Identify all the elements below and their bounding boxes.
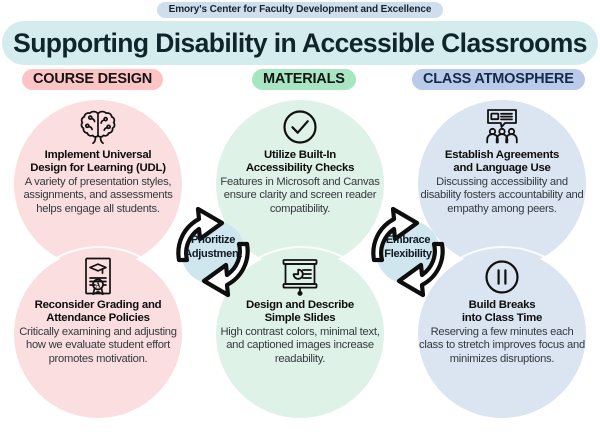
connector-label-line1: Prioritize	[191, 234, 235, 246]
connector-label-line1: Embrace	[386, 234, 430, 246]
node-title: Build Breaks into Class Time	[458, 299, 546, 325]
connector-label-line2: Adjustment	[184, 248, 242, 260]
checkmark-circle-icon	[280, 106, 320, 148]
page-title-bar: Supporting Disability in Accessible Clas…	[2, 21, 598, 65]
connector-label: Embrace Flexibility	[354, 234, 462, 261]
presentation-screen-icon	[277, 256, 323, 298]
column-header-row: COURSE DESIGN MATERIALS CLASS ATMOSPHERE	[0, 69, 600, 95]
group-presentation-icon	[479, 106, 525, 148]
node-title: Implement Universal Design for Learning …	[26, 149, 170, 175]
column-header-materials: MATERIALS	[252, 69, 356, 90]
node-body: High contrast colors, minimal text, and …	[216, 326, 384, 366]
node-title-line1: Build Breaks	[469, 299, 536, 311]
node-title-line2: Accessibility Checks	[246, 162, 354, 174]
node-implement-udl: Implement Universal Design for Learning …	[14, 100, 182, 268]
column-header-course-design: COURSE DESIGN	[22, 69, 163, 90]
pause-circle-icon	[482, 256, 522, 298]
brain-icon	[77, 106, 119, 148]
org-banner-row: Emory's Center for Faculty Development a…	[0, 0, 600, 18]
node-title: Reconsider Grading and Attendance Polici…	[31, 299, 166, 325]
node-body: Critically examining and adjusting how w…	[14, 326, 182, 366]
connector-label-line2: Flexibility	[384, 248, 431, 260]
diploma-certificate-icon: A	[79, 256, 117, 298]
connector-embrace-flexibility: Embrace Flexibility	[354, 198, 462, 306]
node-title: Utilize Built-In Accessibility Checks	[242, 149, 358, 175]
node-body: Reserving a few minutes each class to st…	[418, 326, 586, 366]
column-header-class-atmosphere: CLASS ATMOSPHERE	[412, 69, 585, 90]
node-title-line1: Implement Universal	[45, 149, 152, 161]
svg-text:A: A	[95, 281, 100, 289]
node-title-line2: Simple Slides	[265, 312, 336, 324]
page-title: Supporting Disability in Accessible Clas…	[13, 28, 587, 59]
org-banner: Emory's Center for Faculty Development a…	[157, 2, 444, 18]
node-title-line1: Reconsider Grading and	[35, 299, 162, 311]
node-title-line2: and Language Use	[453, 162, 550, 174]
node-body: A variety of presentation styles, assign…	[14, 176, 182, 216]
node-reconsider-grading: A Reconsider Grading and Attendance Poli…	[14, 250, 182, 418]
node-title-line2: into Class Time	[462, 312, 542, 324]
node-title-line1: Establish Agreements	[445, 149, 559, 161]
connector-prioritize-adjustment: Prioritize Adjustment	[159, 198, 267, 306]
node-title-line1: Utilize Built-In	[264, 149, 336, 161]
node-title: Establish Agreements and Language Use	[441, 149, 563, 175]
node-title-line2: Attendance Policies	[46, 312, 150, 324]
connector-label: Prioritize Adjustment	[159, 234, 267, 261]
node-title-line2: Design for Learning (UDL)	[30, 162, 166, 174]
